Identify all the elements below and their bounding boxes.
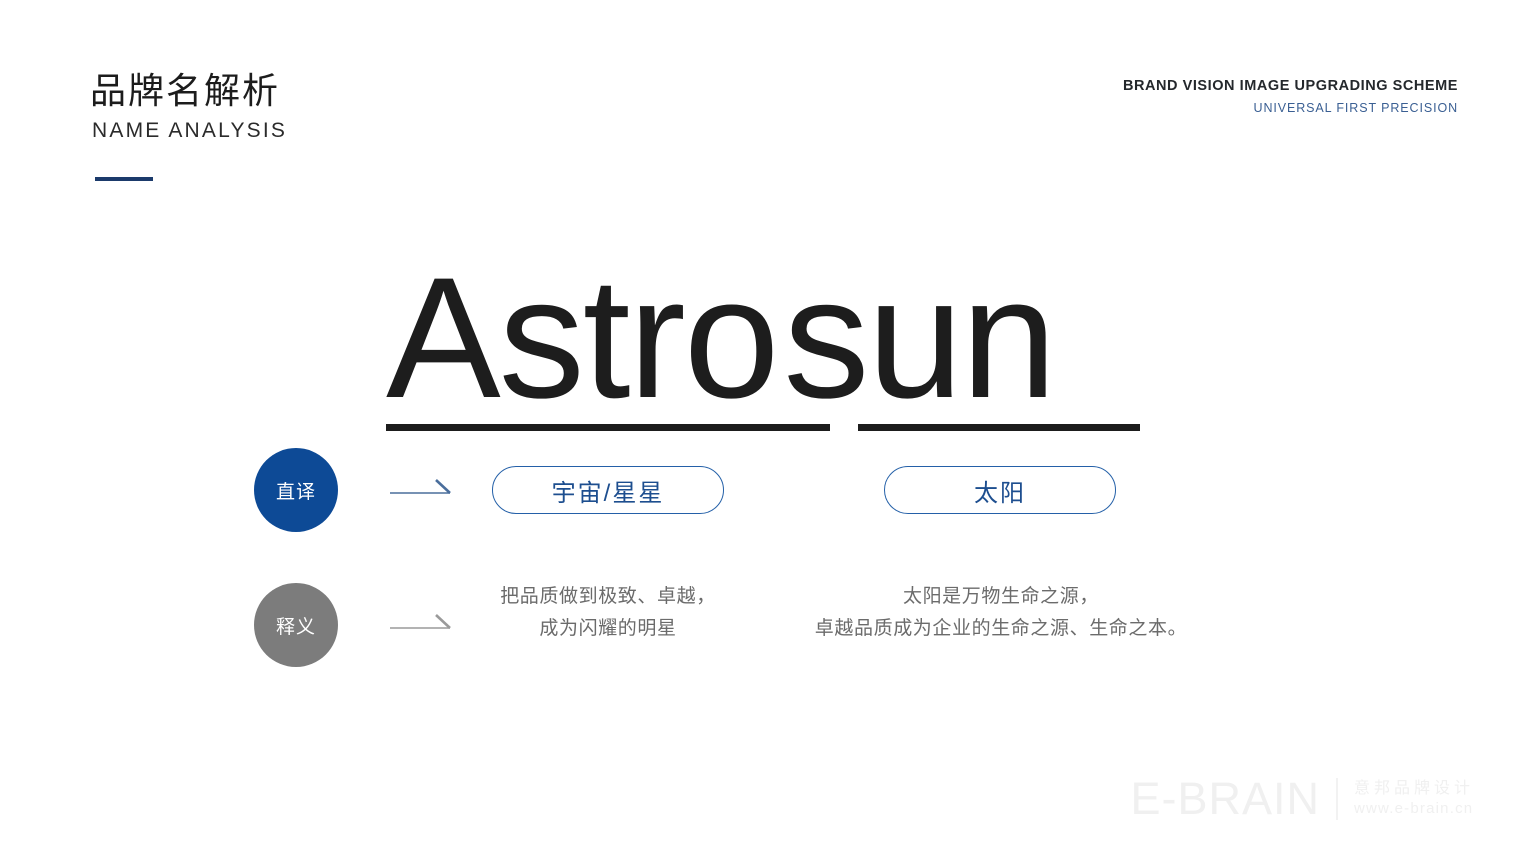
badge-literal-label: 直译 (276, 477, 316, 504)
watermark-brand: E-BRAIN (1130, 776, 1320, 821)
title-accent-rule (95, 177, 153, 181)
logotype-underline-sun (858, 424, 1140, 431)
row-literal-translation: 直译 宇宙/星星 太阳 (0, 448, 1536, 532)
watermark: E-BRAIN 意邦品牌设计 www.e-brain.cn (1130, 776, 1474, 821)
deck-subtitle: UNIVERSAL FIRST PRECISION (1254, 101, 1458, 115)
meaning-text-left: 把品质做到极致、卓越， 成为闪耀的明星 (472, 581, 744, 644)
watermark-details: 意邦品牌设计 www.e-brain.cn (1354, 781, 1474, 816)
slide-canvas: 品牌名解析 NAME ANALYSIS BRAND VISION IMAGE U… (0, 0, 1536, 863)
badge-meaning-label: 释义 (276, 612, 316, 639)
badge-literal-translation: 直译 (254, 448, 338, 532)
pill-literal-left-label: 宇宙/星星 (552, 473, 665, 508)
pill-literal-left: 宇宙/星星 (492, 466, 724, 514)
watermark-url: www.e-brain.cn (1354, 801, 1474, 816)
logotype-text: Astrosun (386, 252, 1055, 424)
meaning-text-right: 太阳是万物生命之源， 卓越品质成为企业的生命之源、生命之本。 (800, 581, 1202, 644)
badge-meaning: 释义 (254, 583, 338, 667)
pill-literal-right: 太阳 (884, 466, 1116, 514)
pill-literal-right-label: 太阳 (974, 473, 1026, 508)
watermark-divider (1336, 778, 1338, 820)
arrow-icon (388, 611, 456, 637)
page-title-cn: 品牌名解析 (90, 72, 280, 110)
watermark-brand-cn: 意邦品牌设计 (1354, 781, 1474, 797)
arrow-icon (388, 476, 456, 502)
brand-logotype: Astrosun (386, 252, 1146, 432)
logotype-part-astro: Astro (386, 242, 777, 434)
logotype-underline-astro (386, 424, 830, 431)
page-title-en: NAME ANALYSIS (92, 119, 287, 143)
logotype-part-sun: sun (783, 242, 1054, 434)
deck-title: BRAND VISION IMAGE UPGRADING SCHEME (1123, 78, 1458, 94)
row-meaning: 释义 把品质做到极致、卓越， 成为闪耀的明星 太阳是万物生命之源， 卓越品质成为… (0, 583, 1536, 667)
